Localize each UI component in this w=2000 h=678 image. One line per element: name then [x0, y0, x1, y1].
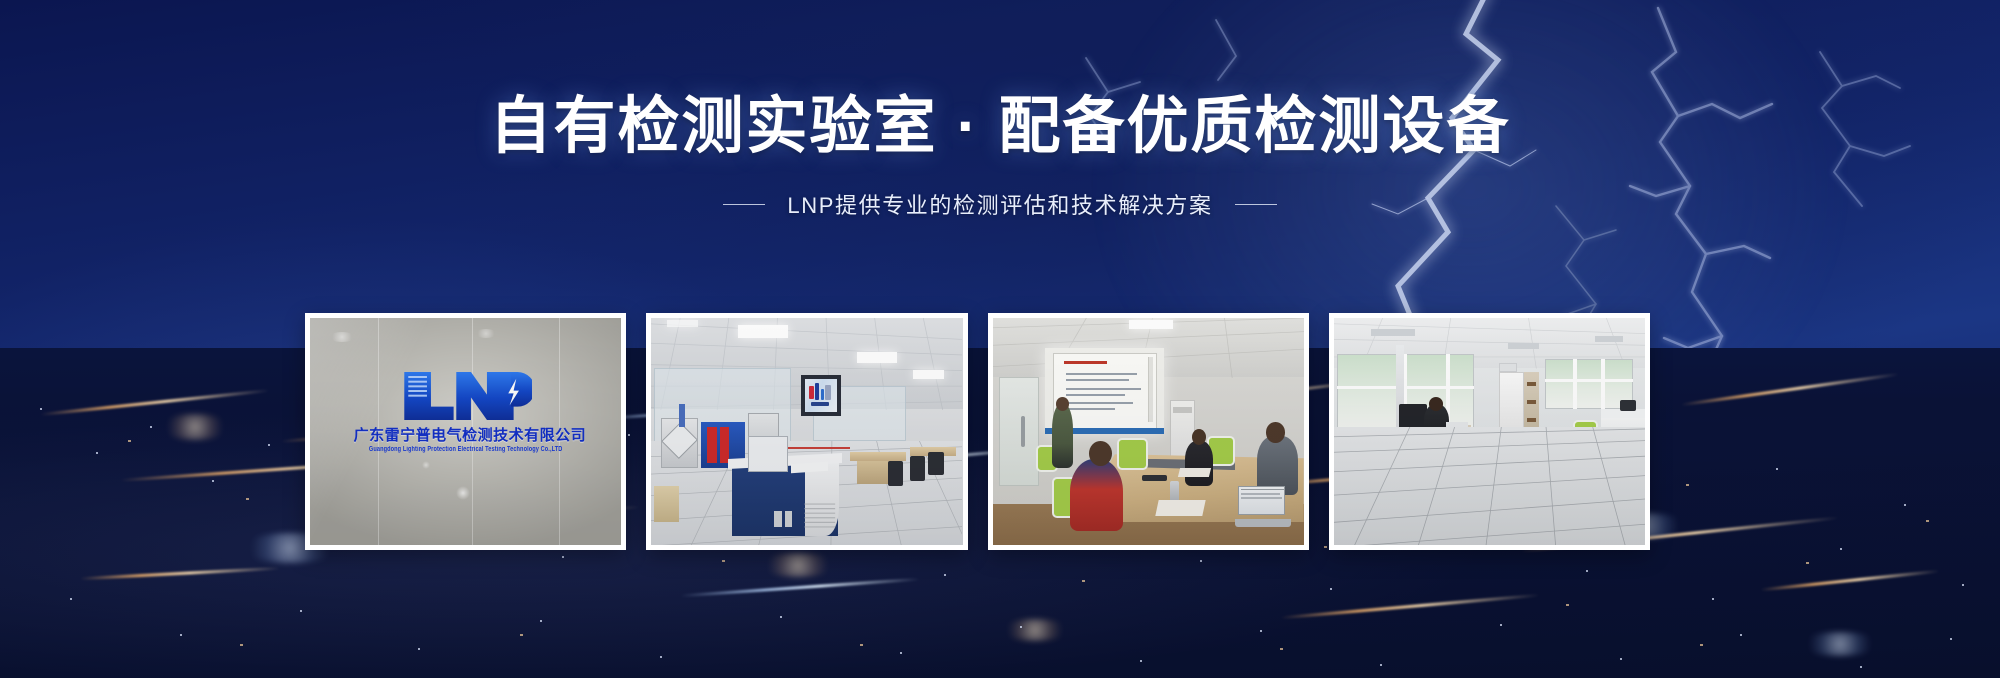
rule-right-icon — [1235, 204, 1277, 205]
office-reception-photo — [1334, 318, 1645, 545]
gallery-card-laboratory[interactable] — [646, 313, 967, 550]
gallery-card-office[interactable] — [1329, 313, 1650, 550]
page-title: 自有检测实验室 · 配备优质检测设备 — [0, 96, 2000, 158]
testing-laboratory-photo — [651, 318, 962, 545]
hero-copy: 自有检测实验室 · 配备优质检测设备 LNP提供专业的检测评估和技术解决方案 — [0, 96, 2000, 220]
gallery-card-company-sign[interactable]: 广东雷宁普电气检测技术有限公司 Guangdong Lighting Prote… — [305, 313, 626, 550]
rule-left-icon — [723, 204, 765, 205]
company-sign-photo: 广东雷宁普电气检测技术有限公司 Guangdong Lighting Prote… — [310, 318, 621, 545]
subtitle-row: LNP提供专业的检测评估和技术解决方案 — [0, 188, 2000, 220]
gallery-card-meeting-room[interactable] — [988, 313, 1309, 550]
page-subtitle: LNP提供专业的检测评估和技术解决方案 — [787, 188, 1212, 220]
photo-gallery: 广东雷宁普电气检测技术有限公司 Guangdong Lighting Prote… — [305, 313, 1650, 550]
hero-banner: 自有检测实验室 · 配备优质检测设备 LNP提供专业的检测评估和技术解决方案 — [0, 0, 2000, 678]
meeting-room-photo — [993, 318, 1304, 545]
